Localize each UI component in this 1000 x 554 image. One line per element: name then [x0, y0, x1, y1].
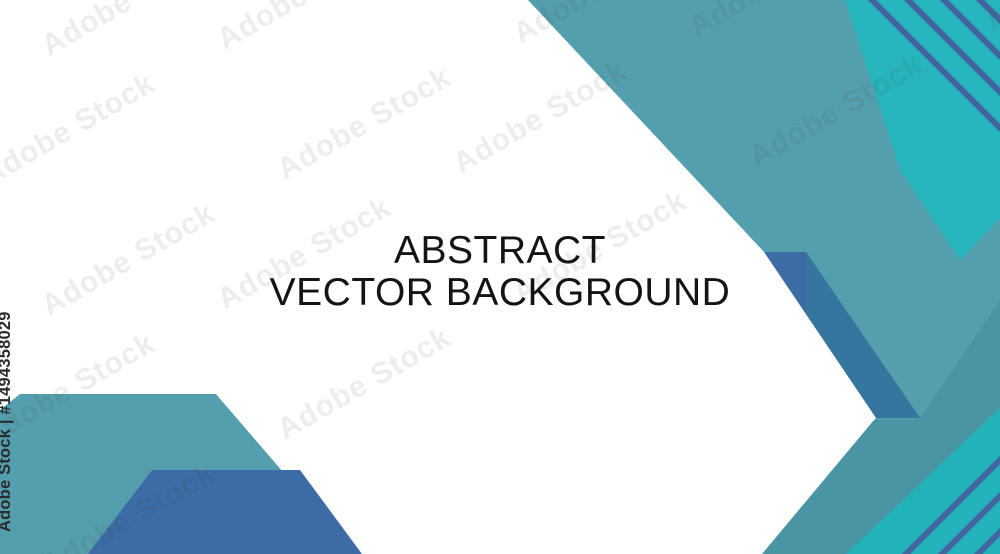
- artwork-canvas: Adobe StockAdobe StockAdobe StockAdobe S…: [0, 0, 1000, 554]
- abstract-vector-artwork: [0, 0, 1000, 554]
